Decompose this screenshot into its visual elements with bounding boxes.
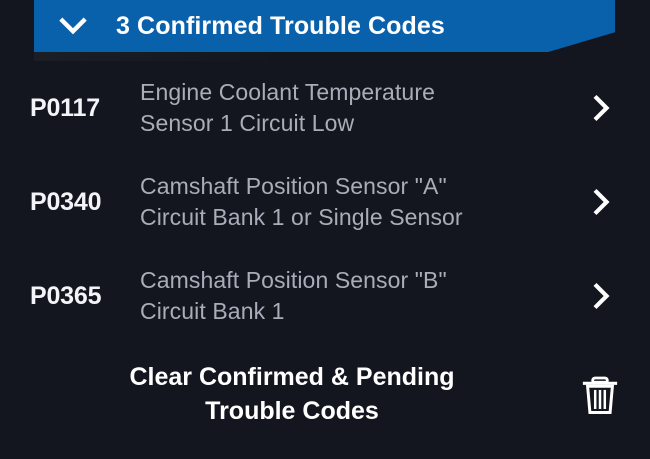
table-row[interactable]: P0365 Camshaft Position Sensor "B" Circu… bbox=[0, 249, 650, 343]
description-line: Circuit Bank 1 bbox=[140, 296, 570, 327]
trouble-code-id: P0340 bbox=[30, 188, 126, 217]
table-row[interactable]: P0340 Camshaft Position Sensor "A" Circu… bbox=[0, 155, 650, 249]
description-line: Circuit Bank 1 or Single Sensor bbox=[140, 202, 570, 233]
trouble-code-id: P0117 bbox=[30, 94, 126, 123]
header-underglow bbox=[34, 52, 284, 61]
trouble-codes-screen: 3 Confirmed Trouble Codes P0117 Engine C… bbox=[0, 0, 650, 459]
clear-codes-label: Clear Confirmed & Pending Trouble Codes bbox=[30, 361, 576, 429]
chevron-right-icon[interactable] bbox=[578, 273, 624, 319]
trouble-code-description: Camshaft Position Sensor "A" Circuit Ban… bbox=[140, 171, 570, 232]
clear-label-line: Trouble Codes bbox=[30, 395, 554, 429]
description-line: Sensor 1 Circuit Low bbox=[140, 108, 570, 139]
chevron-right-icon[interactable] bbox=[578, 179, 624, 225]
trouble-code-description: Engine Coolant Temperature Sensor 1 Circ… bbox=[140, 77, 570, 138]
header-title: 3 Confirmed Trouble Codes bbox=[116, 12, 445, 41]
description-line: Camshaft Position Sensor "A" bbox=[140, 171, 570, 202]
trash-icon[interactable] bbox=[576, 371, 624, 419]
confirmed-codes-header[interactable]: 3 Confirmed Trouble Codes bbox=[34, 0, 615, 52]
table-row[interactable]: P0117 Engine Coolant Temperature Sensor … bbox=[0, 61, 650, 155]
trouble-code-list: P0117 Engine Coolant Temperature Sensor … bbox=[0, 61, 650, 343]
trouble-code-description: Camshaft Position Sensor "B" Circuit Ban… bbox=[140, 265, 570, 326]
chevron-right-icon[interactable] bbox=[578, 85, 624, 131]
clear-codes-button[interactable]: Clear Confirmed & Pending Trouble Codes bbox=[0, 355, 650, 435]
clear-label-line: Clear Confirmed & Pending bbox=[30, 361, 554, 395]
trouble-code-id: P0365 bbox=[30, 282, 126, 311]
description-line: Engine Coolant Temperature bbox=[140, 77, 570, 108]
description-line: Camshaft Position Sensor "B" bbox=[140, 265, 570, 296]
chevron-down-icon[interactable] bbox=[50, 3, 96, 49]
